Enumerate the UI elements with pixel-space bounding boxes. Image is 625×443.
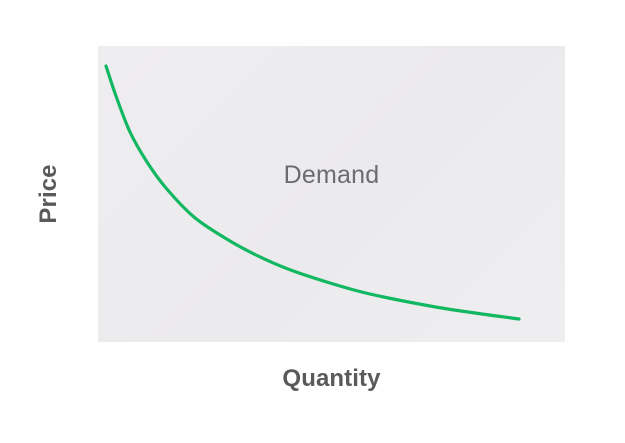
demand-curve-line bbox=[106, 66, 519, 319]
plot-area bbox=[98, 46, 565, 342]
x-axis-title: Quantity bbox=[98, 364, 565, 394]
demand-curve-svg bbox=[98, 46, 565, 346]
y-axis-title: Price bbox=[35, 164, 63, 223]
series-label-demand: Demand bbox=[98, 160, 565, 190]
y-axis-title-container: Price bbox=[0, 46, 98, 342]
demand-curve-figure: Demand Quantity Price bbox=[0, 0, 625, 443]
